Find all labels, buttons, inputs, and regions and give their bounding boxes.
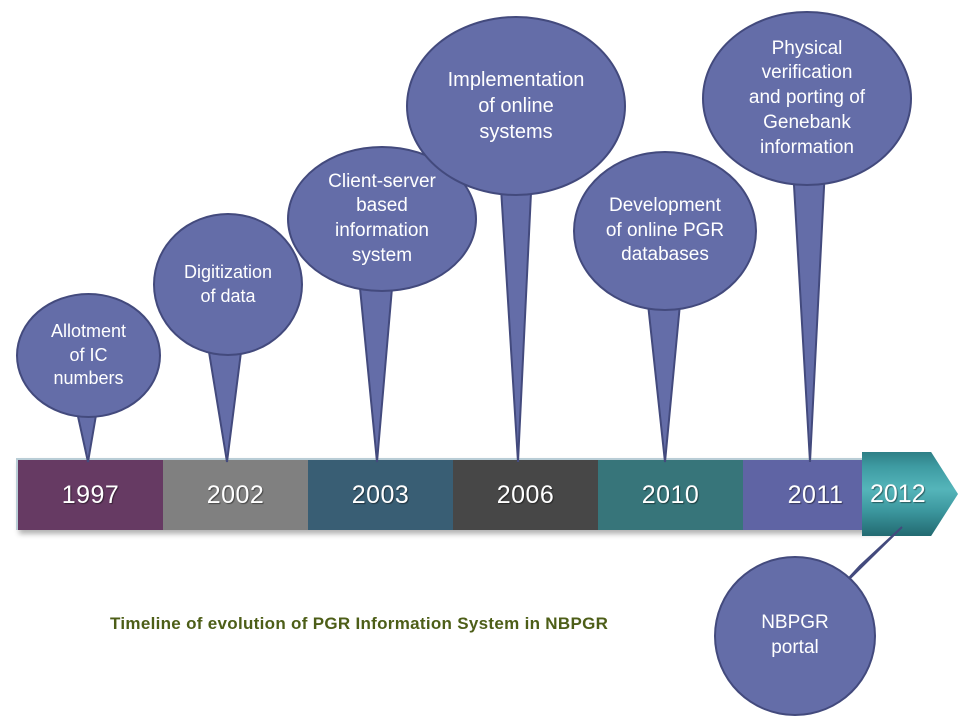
callout-bubble: Implementation of online systems xyxy=(406,16,626,196)
callout-line: portal xyxy=(761,636,829,661)
callout-tail-2010 xyxy=(648,304,680,462)
callout-bubble: Development of online PGR databases xyxy=(573,151,757,311)
callout-line: verification xyxy=(749,61,865,86)
callout-tail-2006 xyxy=(500,172,532,462)
callout-line: Genebank xyxy=(749,111,865,136)
callout-allotment-of-ic-numbers[interactable]: Allotment of IC numbers xyxy=(16,293,161,418)
callout-physical-verification[interactable]: Physical verification and porting of Gen… xyxy=(702,11,912,186)
callout-line: Development xyxy=(606,194,724,219)
callout-nbpgr-portal[interactable]: NBPGR portal xyxy=(714,556,876,716)
callout-line: of online PGR xyxy=(606,219,724,244)
callout-line: Client-server xyxy=(328,170,436,195)
callout-tail-2002 xyxy=(209,352,241,462)
callout-line: system xyxy=(328,244,436,269)
callout-line: Allotment xyxy=(51,320,126,343)
callout-line: systems xyxy=(448,119,585,145)
callout-line: based xyxy=(328,194,436,219)
callout-bubble: Allotment of IC numbers xyxy=(16,293,161,418)
callout-line: numbers xyxy=(51,367,126,390)
callout-line: of online xyxy=(448,93,585,119)
callout-tail-2011 xyxy=(793,168,825,462)
callout-line: of IC xyxy=(51,344,126,367)
callout-line: information xyxy=(328,219,436,244)
callout-bubble: Physical verification and porting of Gen… xyxy=(702,11,912,186)
callout-line: Physical xyxy=(749,37,865,62)
callout-development-pgr-databases[interactable]: Development of online PGR databases xyxy=(573,151,757,311)
callout-line: information xyxy=(749,136,865,161)
callout-line: and porting of xyxy=(749,86,865,111)
callout-line: NBPGR xyxy=(761,611,829,636)
callout-line: Implementation xyxy=(448,67,585,93)
callout-line: databases xyxy=(606,243,724,268)
callout-line: Digitization xyxy=(184,261,272,284)
callout-bubble: Digitization of data xyxy=(153,213,303,356)
callout-line: of data xyxy=(184,285,272,308)
callout-tail-2003 xyxy=(360,288,392,462)
callout-digitization-of-data[interactable]: Digitization of data xyxy=(153,213,303,356)
timeline-diagram: 1997 2002 2003 2006 2010 2011 2012 Allot… xyxy=(0,0,960,720)
callout-implementation-online-systems[interactable]: Implementation of online systems xyxy=(406,16,626,196)
callout-bubble: NBPGR portal xyxy=(714,556,876,716)
